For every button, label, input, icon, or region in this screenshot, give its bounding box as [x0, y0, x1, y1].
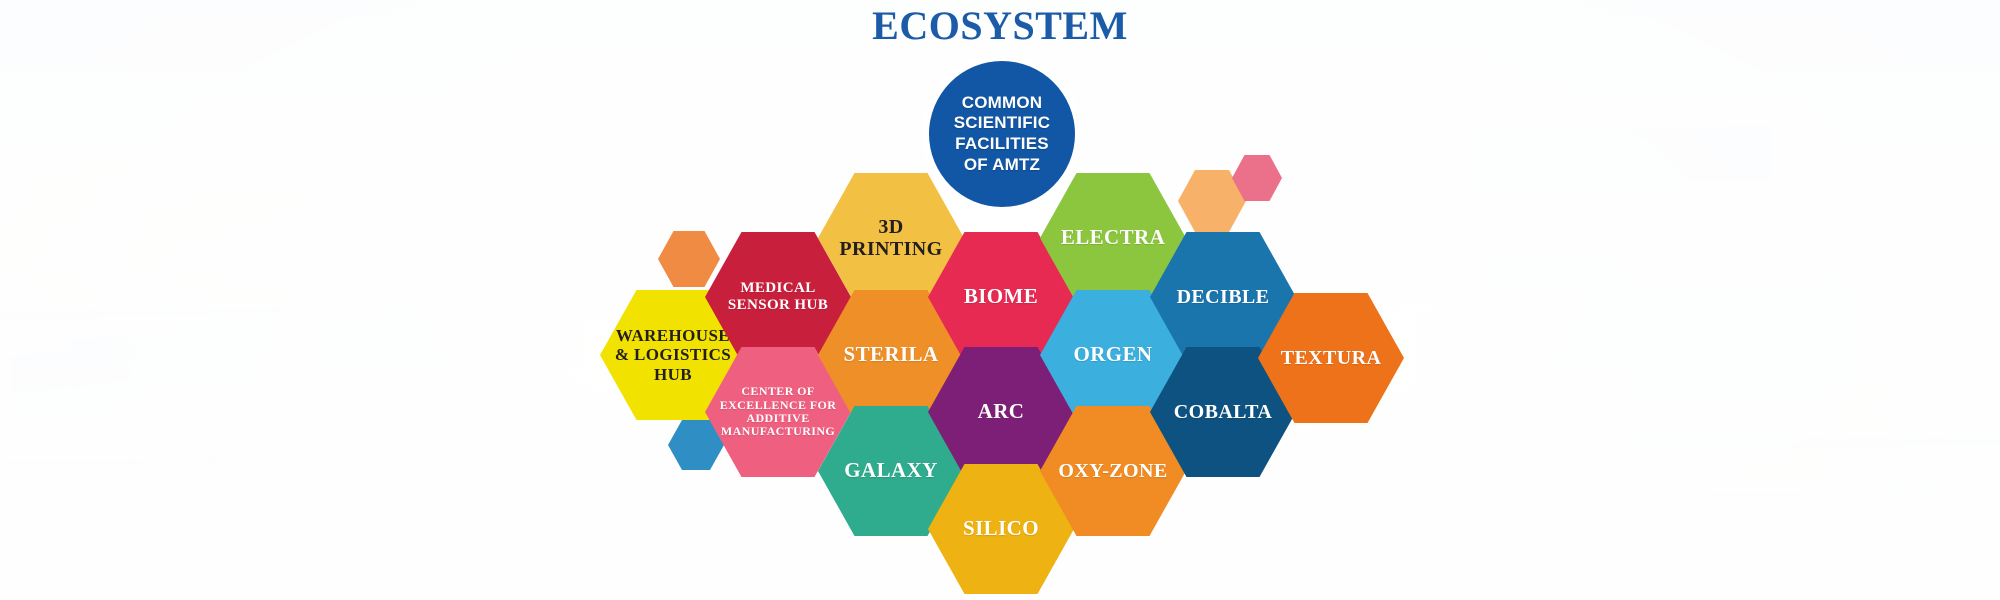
- page-title: ECOSYSTEM: [0, 2, 2000, 49]
- hex-label-line: EXCELLENCE FOR: [720, 398, 837, 412]
- hex-label-line: & LOGISTICS: [615, 345, 731, 364]
- hex-label-biome: BIOME: [958, 285, 1044, 309]
- hex-label-arc: ARC: [972, 400, 1031, 424]
- hex-label-warehouse-logistics-hub: WAREHOUSE& LOGISTICSHUB: [609, 326, 737, 383]
- center-node-line: OF AMTZ: [964, 155, 1040, 174]
- hex-label-line: GALAXY: [844, 458, 937, 482]
- hex-label-line: DECIBLE: [1177, 286, 1270, 308]
- hex-label-orgen: ORGEN: [1067, 343, 1158, 367]
- hex-label-medical-sensor-hub: MEDICALSENSOR HUB: [722, 280, 834, 314]
- center-node-line: SCIENTIFIC: [954, 113, 1050, 132]
- hex-label-silico: SILICO: [957, 517, 1045, 541]
- hex-label-line: OXY-ZONE: [1058, 460, 1167, 482]
- hex-label-decible: DECIBLE: [1171, 286, 1276, 308]
- hex-label-electra: ELECTRA: [1055, 226, 1171, 250]
- hex-label-line: BIOME: [964, 284, 1038, 308]
- hex-label-line: TEXTURA: [1281, 347, 1382, 369]
- ecosystem-diagram: ECOSYSTEM WAREHOUSE& LOGISTICSHUBMEDICAL…: [0, 0, 2000, 600]
- center-node-label: COMMONSCIENTIFICFACILITIESOF AMTZ: [954, 93, 1050, 176]
- center-node-line: FACILITIES: [955, 134, 1049, 153]
- hex-label-line: SENSOR HUB: [728, 297, 828, 313]
- hex-label-line: ARC: [978, 399, 1025, 423]
- decor-hex-orange-left: [658, 231, 720, 287]
- hex-label-line: ADDITIVE: [746, 411, 809, 425]
- hex-label-line: 3D: [878, 216, 903, 238]
- hex-label-line: STERILA: [843, 342, 938, 366]
- hex-label-three-d-printing: 3DPRINTING: [833, 216, 948, 261]
- hex-label-line: ELECTRA: [1061, 225, 1165, 249]
- center-node-line: COMMON: [962, 93, 1043, 112]
- hex-label-sterila: STERILA: [837, 343, 944, 367]
- hex-label-line: PRINTING: [839, 238, 942, 260]
- hex-label-line: MANUFACTURING: [721, 424, 835, 438]
- center-node-common-scientific-facilities[interactable]: COMMONSCIENTIFICFACILITIESOF AMTZ: [929, 61, 1075, 207]
- hex-label-line: WAREHOUSE: [616, 326, 730, 345]
- hex-label-oxy-zone: OXY-ZONE: [1052, 460, 1173, 482]
- hex-label-line: CENTER OF: [741, 384, 814, 398]
- hex-label-textura: TEXTURA: [1275, 347, 1388, 369]
- hex-label-line: MEDICAL: [740, 280, 815, 296]
- hex-label-cobalta: COBALTA: [1168, 401, 1278, 423]
- hex-label-center-of-excellence-additive-manufacturing: CENTER OFEXCELLENCE FORADDITIVEMANUFACTU…: [714, 385, 843, 439]
- hex-label-line: ORGEN: [1073, 342, 1152, 366]
- hex-label-line: HUB: [654, 365, 692, 384]
- hex-label-galaxy: GALAXY: [838, 459, 943, 483]
- hex-label-line: SILICO: [963, 516, 1039, 540]
- hex-label-line: COBALTA: [1174, 401, 1272, 423]
